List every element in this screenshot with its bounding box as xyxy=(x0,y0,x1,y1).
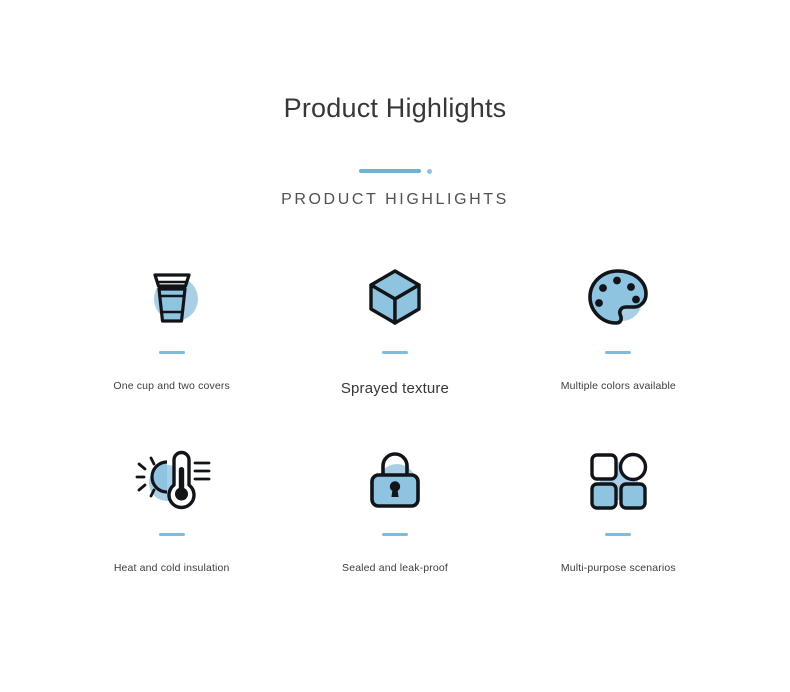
feature-caption: Multi-purpose scenarios xyxy=(561,562,676,574)
isometric-box-icon xyxy=(359,261,431,333)
grid-quad-icon xyxy=(582,443,654,515)
page-subtitle: PRODUCT HIGHLIGHTS xyxy=(0,191,790,209)
page-header: Product Highlights PRODUCT HIGHLIGHTS xyxy=(0,0,790,209)
feature-caption: Heat and cold insulation xyxy=(114,562,230,574)
feature-caption: Multiple colors available xyxy=(561,380,676,392)
divider-line xyxy=(359,169,421,173)
feature-card: Multi-purpose scenarios xyxy=(507,443,730,621)
page-title: Product Highlights xyxy=(0,92,790,124)
feature-caption: Sealed and leak-proof xyxy=(342,562,448,574)
feature-card: Heat and cold insulation xyxy=(60,443,283,621)
paint-palette-icon xyxy=(582,261,654,333)
title-divider xyxy=(0,166,790,176)
product-highlights-page: Product Highlights PRODUCT HIGHLIGHTS On… xyxy=(0,0,790,692)
feature-caption: One cup and two covers xyxy=(113,380,230,392)
divider-dot xyxy=(427,169,432,174)
feature-card: Sealed and leak-proof xyxy=(283,443,506,621)
thermometer-sun-icon xyxy=(129,443,215,515)
card-rule xyxy=(159,351,185,354)
feature-card: One cup and two covers xyxy=(60,261,283,439)
card-rule xyxy=(382,533,408,536)
feature-caption: Sprayed texture xyxy=(341,380,449,397)
padlock-icon xyxy=(359,443,431,515)
feature-grid: One cup and two covers Sprayed texture xyxy=(0,261,790,621)
feature-card: Multiple colors available xyxy=(507,261,730,439)
card-rule xyxy=(382,351,408,354)
feature-card: Sprayed texture xyxy=(283,261,506,439)
card-rule xyxy=(605,533,631,536)
card-rule xyxy=(159,533,185,536)
coffee-cup-icon xyxy=(136,261,208,333)
card-rule xyxy=(605,351,631,354)
